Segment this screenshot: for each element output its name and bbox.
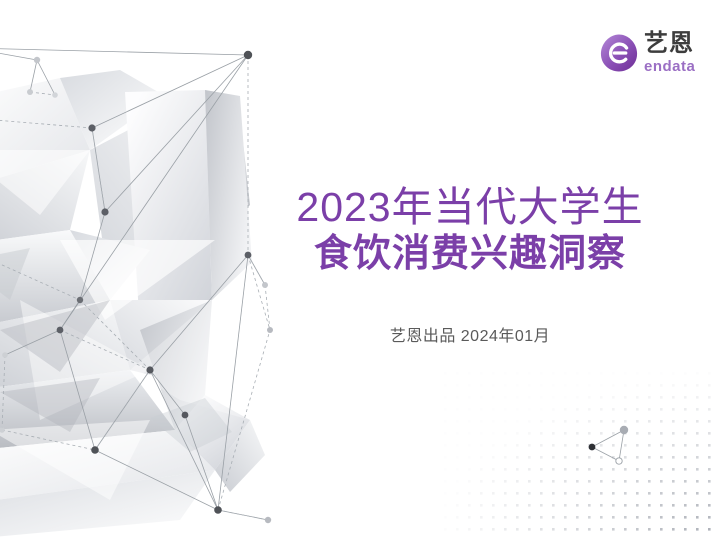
logo-chinese-name: 艺恩 bbox=[644, 32, 695, 58]
cover-slide: 艺恩 endata 2023年当代大学生 食饮消费兴趣洞察 艺恩出品 2024年… bbox=[0, 0, 720, 540]
page-title: 2023年当代大学生 食饮消费兴趣洞察 bbox=[230, 182, 710, 278]
title-line-1: 2023年当代大学生 bbox=[230, 182, 710, 232]
logo-english-name: endata bbox=[644, 59, 695, 74]
endata-logo[interactable]: 艺恩 endata bbox=[598, 27, 710, 79]
subtitle-publisher-date: 艺恩出品 2024年01月 bbox=[230, 322, 710, 346]
logo-wordmark: 艺恩 endata bbox=[644, 32, 695, 74]
endata-e-mark-icon bbox=[598, 32, 640, 74]
title-line-2: 食饮消费兴趣洞察 bbox=[230, 230, 710, 278]
